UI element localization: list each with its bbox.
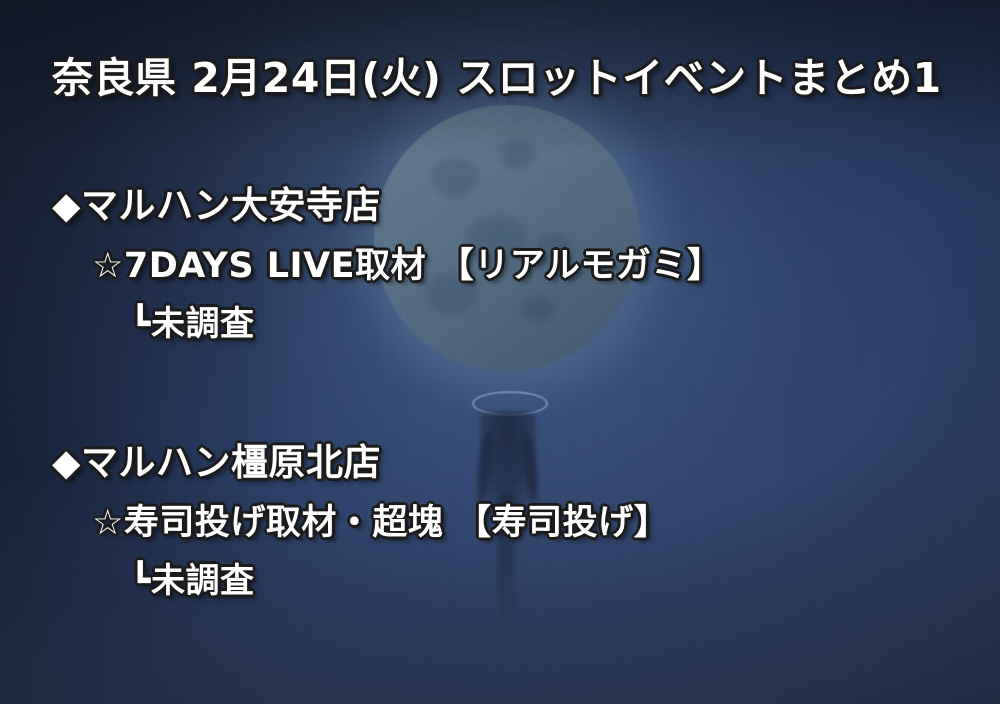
event-line-1: ☆7DAYS LIVE取材 【リアルモガミ】 (92, 237, 722, 288)
text-content: 奈良県 2月24日(火) スロットイベントまとめ1 ◆マルハン大安寺店 ☆7DA… (0, 0, 1000, 704)
store-name-2: ◆マルハン橿原北店 (52, 432, 381, 486)
slot-event-summary-image: 奈良県 2月24日(火) スロットイベントまとめ1 ◆マルハン大安寺店 ☆7DA… (0, 0, 1000, 704)
event-line-2: ☆寿司投げ取材・超塊 【寿司投げ】 (92, 494, 669, 545)
status-line-2: ┗未調査 (130, 553, 254, 602)
store-name-1: ◆マルハン大安寺店 (52, 175, 381, 229)
page-title: 奈良県 2月24日(火) スロットイベントまとめ1 (52, 44, 942, 104)
status-line-1: ┗未調査 (130, 296, 254, 345)
